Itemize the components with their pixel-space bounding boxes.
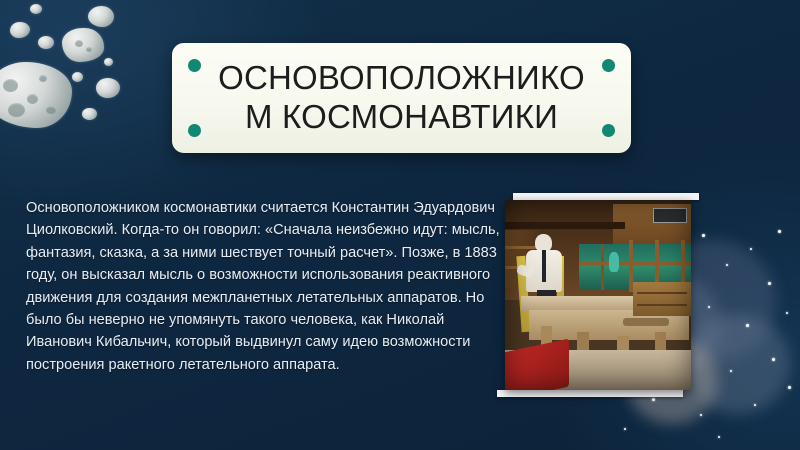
- asteroid-icon: [82, 108, 97, 120]
- asteroid-field-decoration: [0, 0, 190, 175]
- asteroid-icon: [62, 28, 104, 62]
- plaque-dot-bottom-right-icon: [602, 124, 615, 137]
- asteroid-icon: [72, 72, 83, 82]
- slide-canvas: ОСНОВОПОЛОЖНИКО М КОСМОНАВТИКИ Основопол…: [0, 0, 800, 450]
- slide-title: ОСНОВОПОЛОЖНИКО М КОСМОНАВТИКИ: [184, 59, 619, 137]
- workshop-interior-photo: [505, 200, 691, 390]
- asteroid-icon: [0, 62, 72, 128]
- asteroid-icon: [38, 36, 54, 49]
- plaque-dot-top-left-icon: [188, 59, 201, 72]
- photo-frame-bottom: [497, 390, 683, 397]
- asteroid-icon: [96, 78, 120, 98]
- body-paragraph: Основоположником космонавтики считается …: [26, 197, 504, 376]
- asteroid-icon: [10, 22, 30, 38]
- asteroid-icon: [88, 6, 114, 27]
- plaque-dot-top-right-icon: [602, 59, 615, 72]
- photo-frame-top: [513, 193, 699, 200]
- photo-block: [505, 200, 691, 390]
- title-plaque: ОСНОВОПОЛОЖНИКО М КОСМОНАВТИКИ: [172, 43, 631, 153]
- plaque-dot-bottom-left-icon: [188, 124, 201, 137]
- asteroid-icon: [30, 4, 42, 14]
- asteroid-icon: [104, 58, 113, 66]
